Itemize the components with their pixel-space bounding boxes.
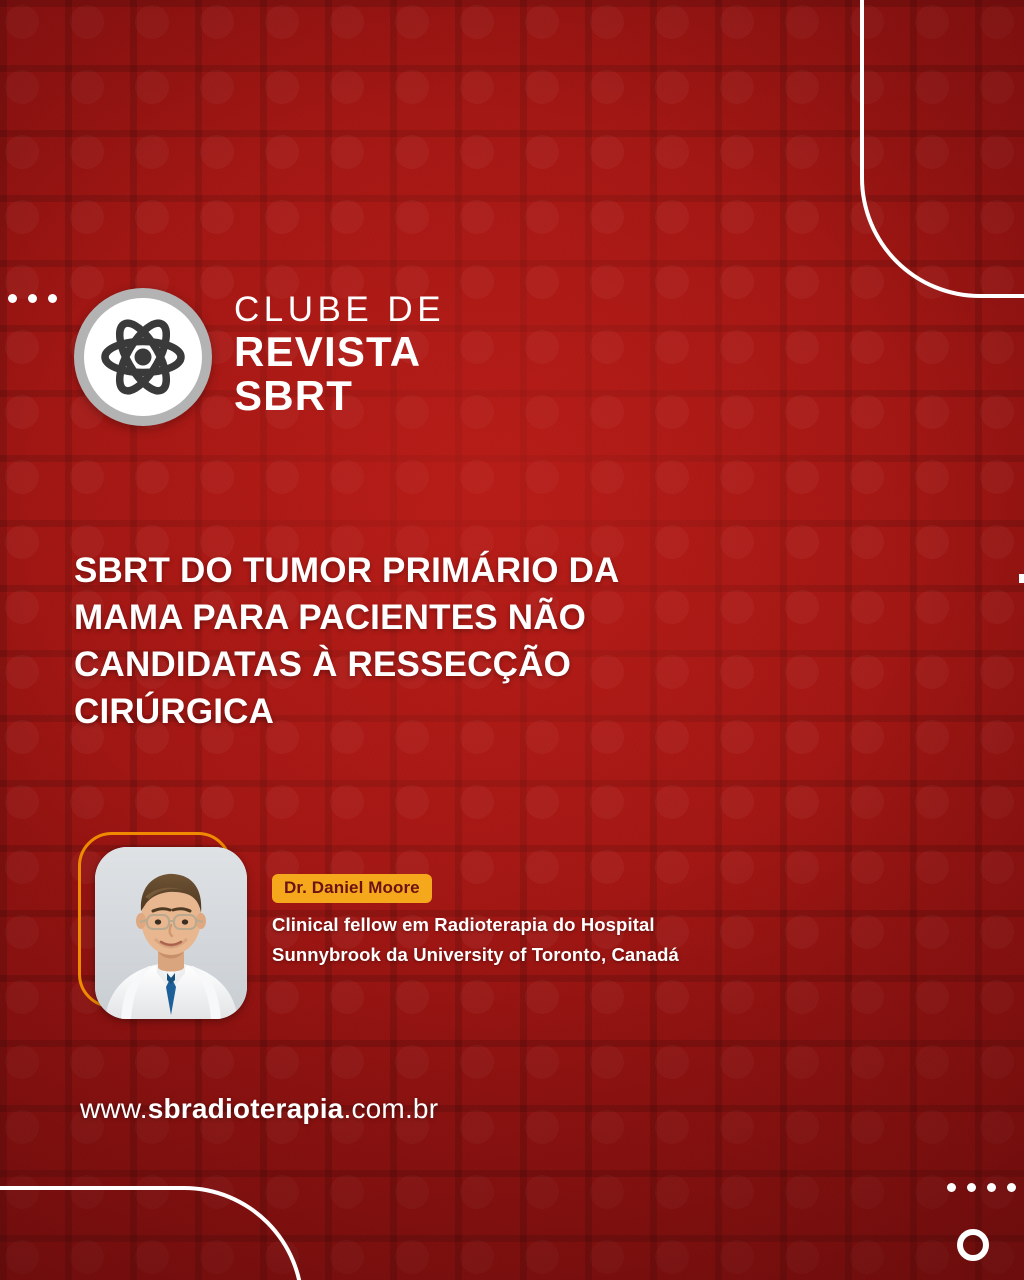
speaker-affiliation: Clinical fellow em Radioterapia do Hospi… bbox=[272, 910, 679, 970]
speaker-affiliation-line-2: Sunnybrook da University of Toronto, Can… bbox=[272, 940, 679, 970]
dots-bottom-right bbox=[947, 1183, 1016, 1192]
avatar bbox=[95, 847, 247, 1019]
brand-wordmark: CLUBE DE REVISTA SBRT bbox=[234, 292, 445, 422]
atom-icon bbox=[93, 307, 193, 407]
brand-logo-block: CLUBE DE REVISTA SBRT bbox=[74, 288, 445, 426]
headline-title: SBRT DO TUMOR PRIMÁRIO DA MAMA PARA PACI… bbox=[74, 548, 674, 736]
dot bbox=[8, 294, 17, 303]
edge-tick-mark bbox=[1019, 574, 1024, 583]
speaker-name-badge: Dr. Daniel Moore bbox=[272, 874, 432, 903]
speaker-photo-frame bbox=[78, 832, 258, 1032]
logo-disc bbox=[84, 298, 202, 416]
dot bbox=[947, 1183, 956, 1192]
dots-left-edge bbox=[8, 294, 57, 303]
circle-outline-icon bbox=[957, 1229, 989, 1261]
speaker-block: Dr. Daniel Moore Clinical fellow em Radi… bbox=[78, 832, 679, 1032]
dot bbox=[1007, 1183, 1016, 1192]
dot bbox=[967, 1183, 976, 1192]
dot bbox=[28, 294, 37, 303]
speaker-affiliation-line-1: Clinical fellow em Radioterapia do Hospi… bbox=[272, 910, 679, 940]
url-prefix: www. bbox=[80, 1093, 148, 1124]
speaker-text-block: Dr. Daniel Moore Clinical fellow em Radi… bbox=[272, 832, 679, 970]
poster-canvas: CLUBE DE REVISTA SBRT SBRT DO TUMOR PRIM… bbox=[0, 0, 1024, 1280]
url-suffix: .com.br bbox=[343, 1093, 438, 1124]
dot bbox=[987, 1183, 996, 1192]
brand-line-revista: REVISTA bbox=[234, 330, 445, 374]
brand-line-clube-de: CLUBE DE bbox=[234, 292, 445, 328]
url-domain: sbradioterapia bbox=[148, 1093, 344, 1124]
logo-badge bbox=[74, 288, 212, 426]
brand-line-sbrt: SBRT bbox=[234, 374, 445, 418]
website-url[interactable]: www.sbradioterapia.com.br bbox=[80, 1093, 438, 1125]
dot bbox=[48, 294, 57, 303]
speaker-photo bbox=[95, 847, 247, 1019]
